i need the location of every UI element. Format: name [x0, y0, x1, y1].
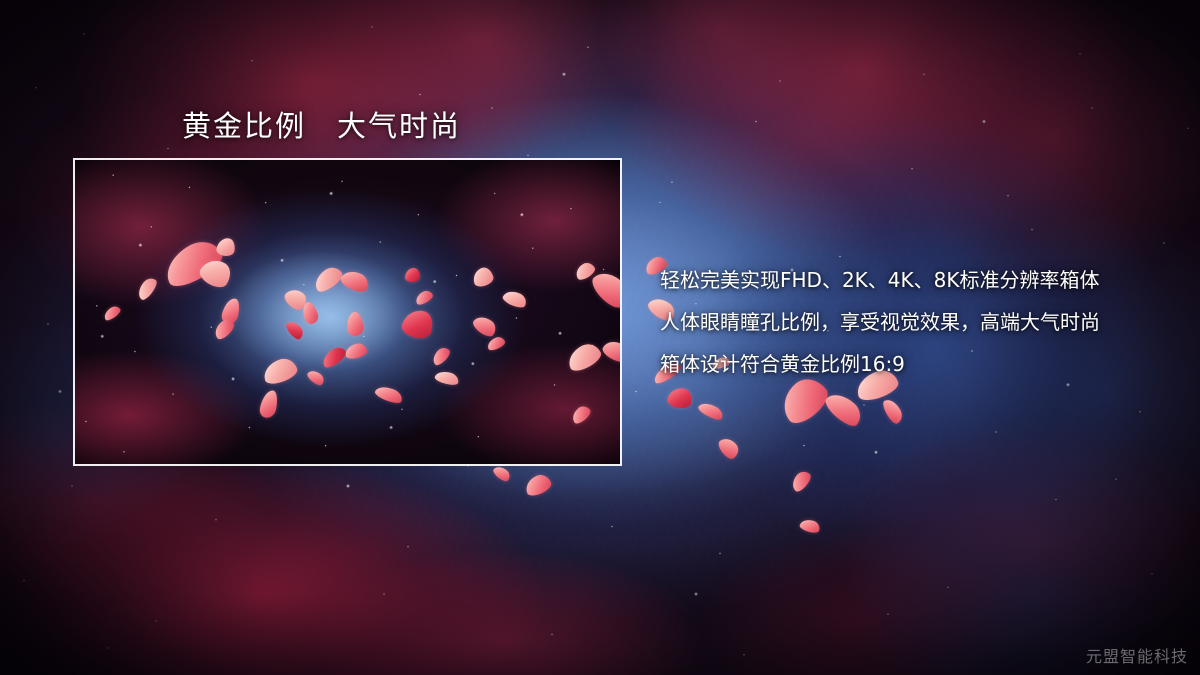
petal [799, 517, 822, 535]
petal [492, 464, 513, 484]
watermark: 元盟智能科技 [1086, 643, 1188, 667]
body-line: 轻松完美实现FHD、2K、4K、8K标准分辨率箱体 [660, 259, 1100, 301]
galaxy-image-frame[interactable] [73, 158, 622, 466]
slide-canvas: 黄金比例 大气时尚 轻松完美实现FHD、2K、4K、8K标准分辨率箱体 人体眼睛… [0, 0, 1200, 675]
petal [666, 386, 694, 411]
petal [405, 268, 420, 282]
petal [716, 434, 742, 461]
body-line: 箱体设计符合黄金比例16:9 [660, 343, 1100, 385]
body-line: 人体眼睛瞳孔比例，享受视觉效果，高端大气时尚 [660, 301, 1100, 343]
petal [788, 468, 813, 494]
petal [523, 472, 554, 498]
body-text-block: 轻松完美实现FHD、2K、4K、8K标准分辨率箱体 人体眼睛瞳孔比例，享受视觉效… [660, 259, 1100, 385]
petal [697, 400, 726, 423]
petal [881, 396, 906, 426]
panel-nebula-layer [75, 160, 620, 464]
page-title: 黄金比例 大气时尚 [182, 103, 461, 145]
